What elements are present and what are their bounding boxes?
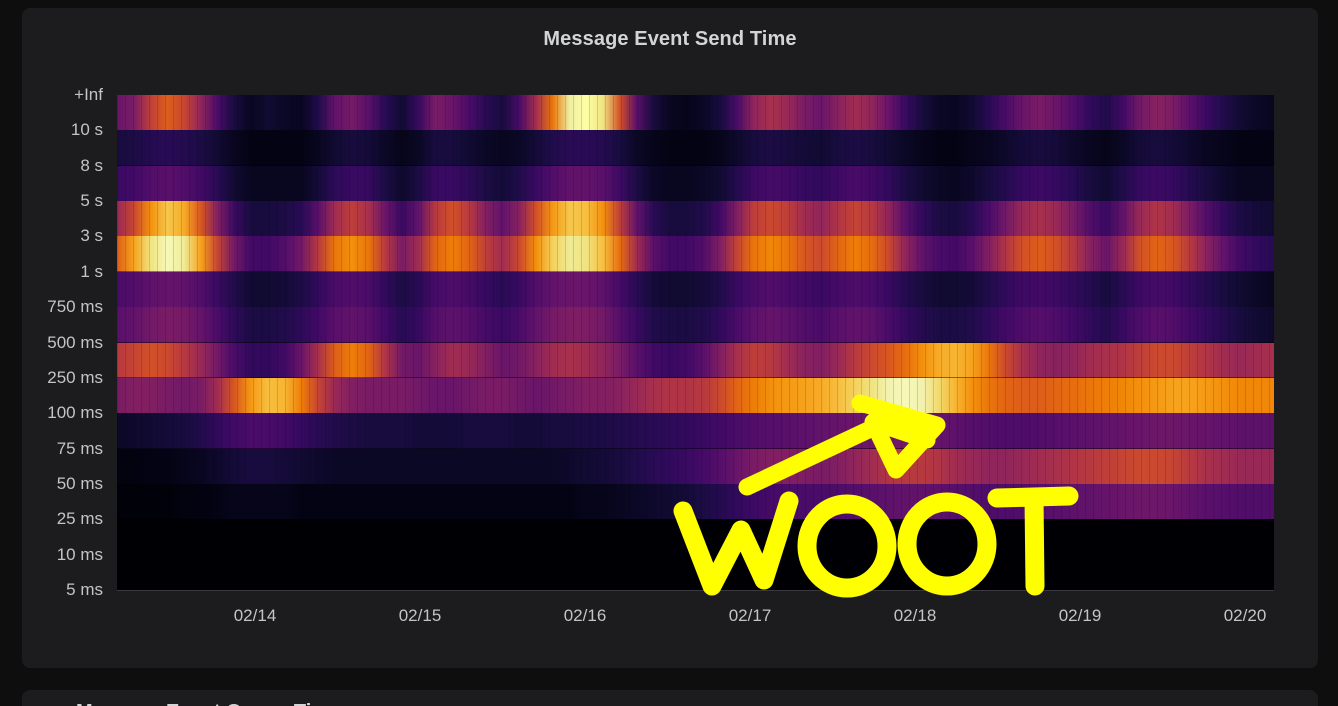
x-axis-tick-label: 02/18 bbox=[894, 606, 937, 626]
y-axis-tick-label: 25 ms bbox=[22, 509, 103, 529]
x-axis-tick-label: 02/20 bbox=[1224, 606, 1267, 626]
y-axis-tick-label: 1 s bbox=[22, 262, 103, 282]
y-axis-tick-label: 50 ms bbox=[22, 474, 103, 494]
x-axis-line bbox=[117, 590, 1274, 591]
x-axis-tick-label: 02/17 bbox=[729, 606, 772, 626]
next-panel-peek[interactable]: Message Event Queue Time bbox=[22, 690, 1318, 706]
y-axis-tick-label: 5 s bbox=[22, 191, 103, 211]
y-axis-tick-label: 100 ms bbox=[22, 403, 103, 423]
heatmap-panel[interactable]: Message Event Send Time +Inf10 s8 s5 s3 … bbox=[22, 8, 1318, 668]
y-axis-tick-label: 750 ms bbox=[22, 297, 103, 317]
heatmap-column-texture bbox=[117, 95, 1274, 590]
screen: Message Event Send Time +Inf10 s8 s5 s3 … bbox=[0, 0, 1338, 706]
y-axis-tick-label: 250 ms bbox=[22, 368, 103, 388]
x-axis-tick-label: 02/19 bbox=[1059, 606, 1102, 626]
y-axis-tick-label: 75 ms bbox=[22, 439, 103, 459]
next-panel-title: Message Event Queue Time bbox=[76, 701, 340, 706]
x-axis-tick-label: 02/15 bbox=[399, 606, 442, 626]
y-axis-tick-label: 10 s bbox=[22, 120, 103, 140]
y-axis-tick-label: 500 ms bbox=[22, 333, 103, 353]
x-axis-tick-label: 02/14 bbox=[234, 606, 277, 626]
x-axis-tick-label: 02/16 bbox=[564, 606, 607, 626]
y-axis-tick-label: 10 ms bbox=[22, 545, 103, 565]
y-axis-tick-label: +Inf bbox=[22, 85, 103, 105]
heatmap-plot-area[interactable] bbox=[117, 95, 1274, 590]
y-axis-tick-label: 5 ms bbox=[22, 580, 103, 600]
y-axis-tick-label: 8 s bbox=[22, 156, 103, 176]
y-axis-tick-label: 3 s bbox=[22, 226, 103, 246]
panel-title: Message Event Send Time bbox=[22, 28, 1318, 51]
